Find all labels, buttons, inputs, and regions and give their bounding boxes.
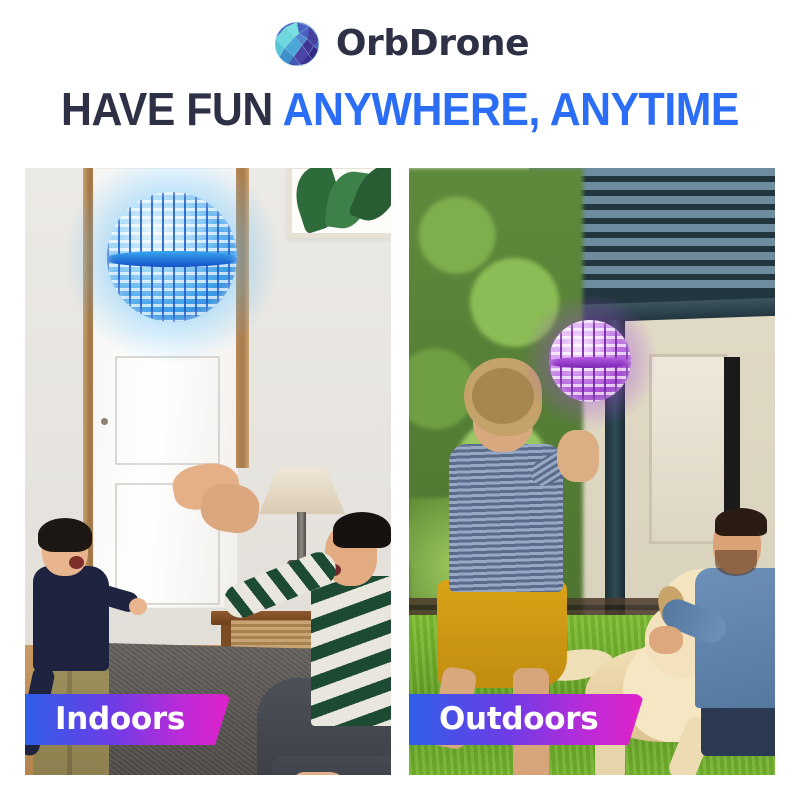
caption-label: Indoors <box>55 704 185 735</box>
photo-panels: Indoors <box>25 168 775 775</box>
boy-hand <box>129 598 147 615</box>
headline-part-blue: ANYWHERE, ANYTIME <box>283 83 739 135</box>
promo-page: OrbDrone HAVE FUN ANYWHERE, ANYTIME <box>0 0 800 800</box>
caption-label: Outdoors <box>439 704 598 735</box>
boy-mouth <box>69 556 84 569</box>
photo-panel-outdoor: Outdoors <box>409 168 775 775</box>
man-beard <box>715 550 757 576</box>
door-knob <box>101 418 108 425</box>
page-headline: HAVE FUN ANYWHERE, ANYTIME <box>28 84 772 134</box>
boy-sweater <box>33 566 109 671</box>
wall-art-frame <box>287 168 391 238</box>
boy-hand <box>557 430 599 482</box>
man-hair <box>333 512 391 548</box>
geodesic-sphere-icon <box>271 18 323 70</box>
caption-indoors: Indoors <box>25 694 231 745</box>
orb-drone-purple <box>549 320 631 402</box>
boy-hair <box>38 518 92 552</box>
man-hand <box>649 626 683 654</box>
orb-drone-blue <box>107 192 237 322</box>
caption-outdoors: Outdoors <box>409 694 644 745</box>
man-striped-shirt <box>311 576 391 726</box>
man-hair <box>715 508 767 536</box>
house-doorway <box>649 354 727 544</box>
orb-rim <box>549 320 631 402</box>
headline-part-dark: HAVE FUN <box>61 83 273 135</box>
table-lamp-neck <box>297 512 306 562</box>
brand-name: OrbDrone <box>336 26 529 62</box>
brand-header: OrbDrone <box>0 18 800 70</box>
photo-panel-indoor: Indoors <box>25 168 391 775</box>
orb-rim <box>107 192 237 322</box>
